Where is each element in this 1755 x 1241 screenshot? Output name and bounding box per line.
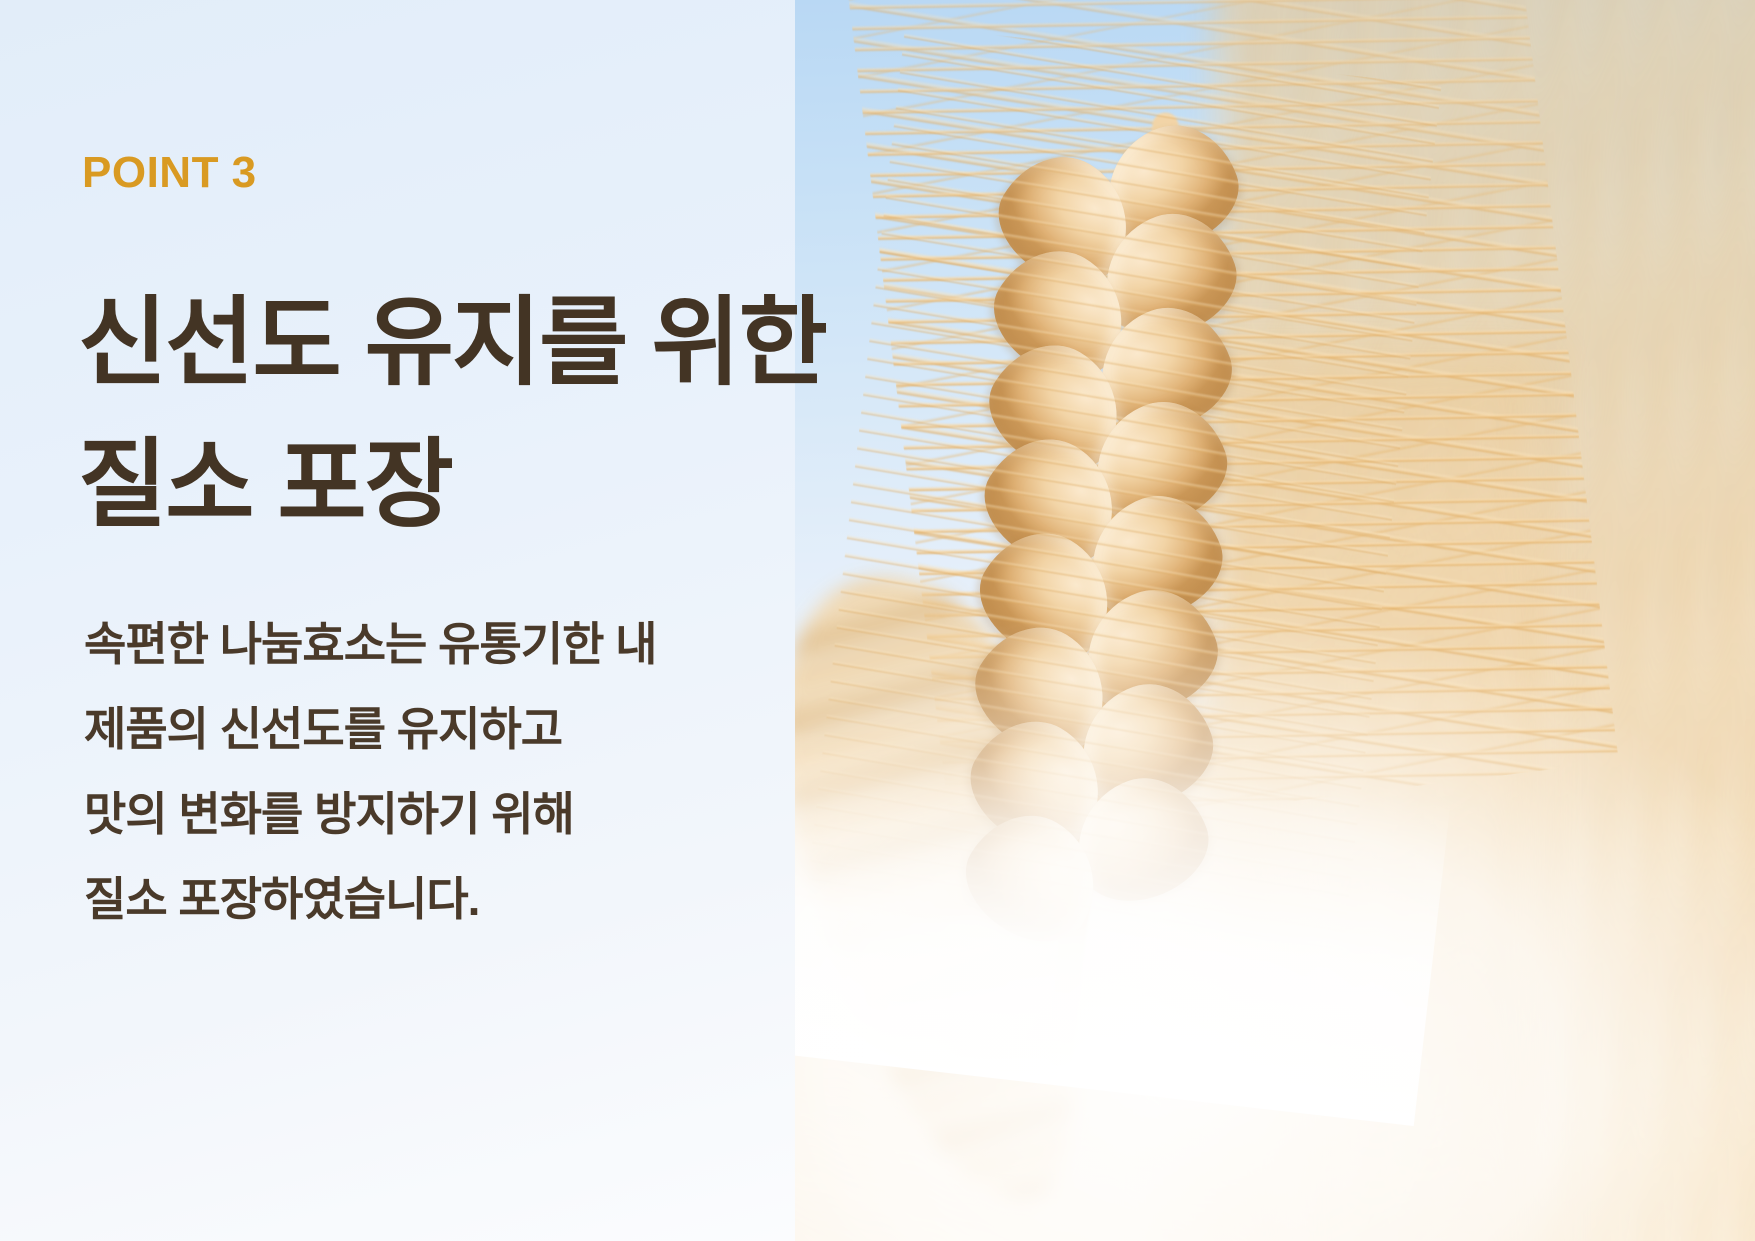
page-title: 신선도 유지를 위한 질소 포장 bbox=[78, 272, 826, 555]
description-text: 속편한 나눔효소는 유통기한 내 제품의 신선도를 유지하고 맛의 변화를 방지… bbox=[84, 602, 657, 942]
promo-banner: POINT 3 신선도 유지를 위한 질소 포장 속편한 나눔효소는 유통기한 … bbox=[0, 0, 1755, 1241]
point-label: POINT 3 bbox=[82, 151, 257, 195]
text-content: POINT 3 신선도 유지를 위한 질소 포장 속편한 나눔효소는 유통기한 … bbox=[82, 0, 1042, 1241]
